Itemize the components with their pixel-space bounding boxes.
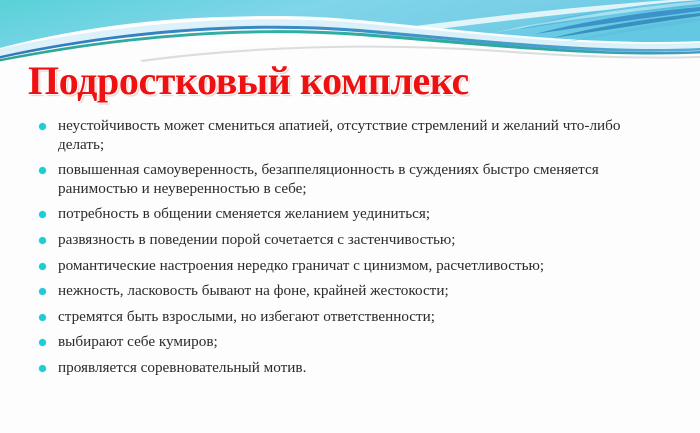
list-item: потребность в общении сменяется желанием… — [30, 205, 655, 224]
list-item: проявляется соревновательный мотив. — [30, 359, 655, 378]
slide-title: Подростковый комплекс — [28, 58, 678, 104]
list-item: стремятся быть взрослыми, но избегают от… — [30, 308, 655, 327]
list-item: развязность в поведении порой сочетается… — [30, 231, 655, 250]
list-item: повышенная самоуверенность, безаппеляцио… — [30, 161, 655, 198]
list-item-text: развязность в поведении порой сочетается… — [58, 231, 655, 250]
bullet-list: неустойчивость может смениться апатией, … — [30, 117, 655, 378]
list-item-text: повышенная самоуверенность, безаппеляцио… — [58, 161, 655, 198]
bullet-dot-icon — [39, 167, 46, 174]
bullet-dot-icon — [39, 339, 46, 346]
bullet-dot-icon — [39, 288, 46, 295]
list-item: романтические настроения нередко гранича… — [30, 257, 655, 276]
bullet-dot-icon — [39, 365, 46, 372]
list-item-text: неустойчивость может смениться апатией, … — [58, 117, 655, 154]
presentation-slide: Подростковый комплекс неустойчивость мож… — [0, 0, 700, 433]
list-item-text: проявляется соревновательный мотив. — [58, 359, 655, 378]
list-item-text: стремятся быть взрослыми, но избегают от… — [58, 308, 655, 327]
list-item: выбирают себе кумиров; — [30, 333, 655, 352]
list-item-text: нежность, ласковость бывают на фоне, кра… — [58, 282, 655, 301]
bullet-dot-icon — [39, 237, 46, 244]
bullet-dot-icon — [39, 314, 46, 321]
list-item-text: выбирают себе кумиров; — [58, 333, 655, 352]
list-item-text: романтические настроения нередко гранича… — [58, 257, 655, 276]
bullet-dot-icon — [39, 211, 46, 218]
list-item-text: потребность в общении сменяется желанием… — [58, 205, 655, 224]
bullet-dot-icon — [39, 263, 46, 270]
list-item: неустойчивость может смениться апатией, … — [30, 117, 655, 154]
wave-banner-header — [0, 0, 700, 64]
bullet-dot-icon — [39, 123, 46, 130]
list-item: нежность, ласковость бывают на фоне, кра… — [30, 282, 655, 301]
